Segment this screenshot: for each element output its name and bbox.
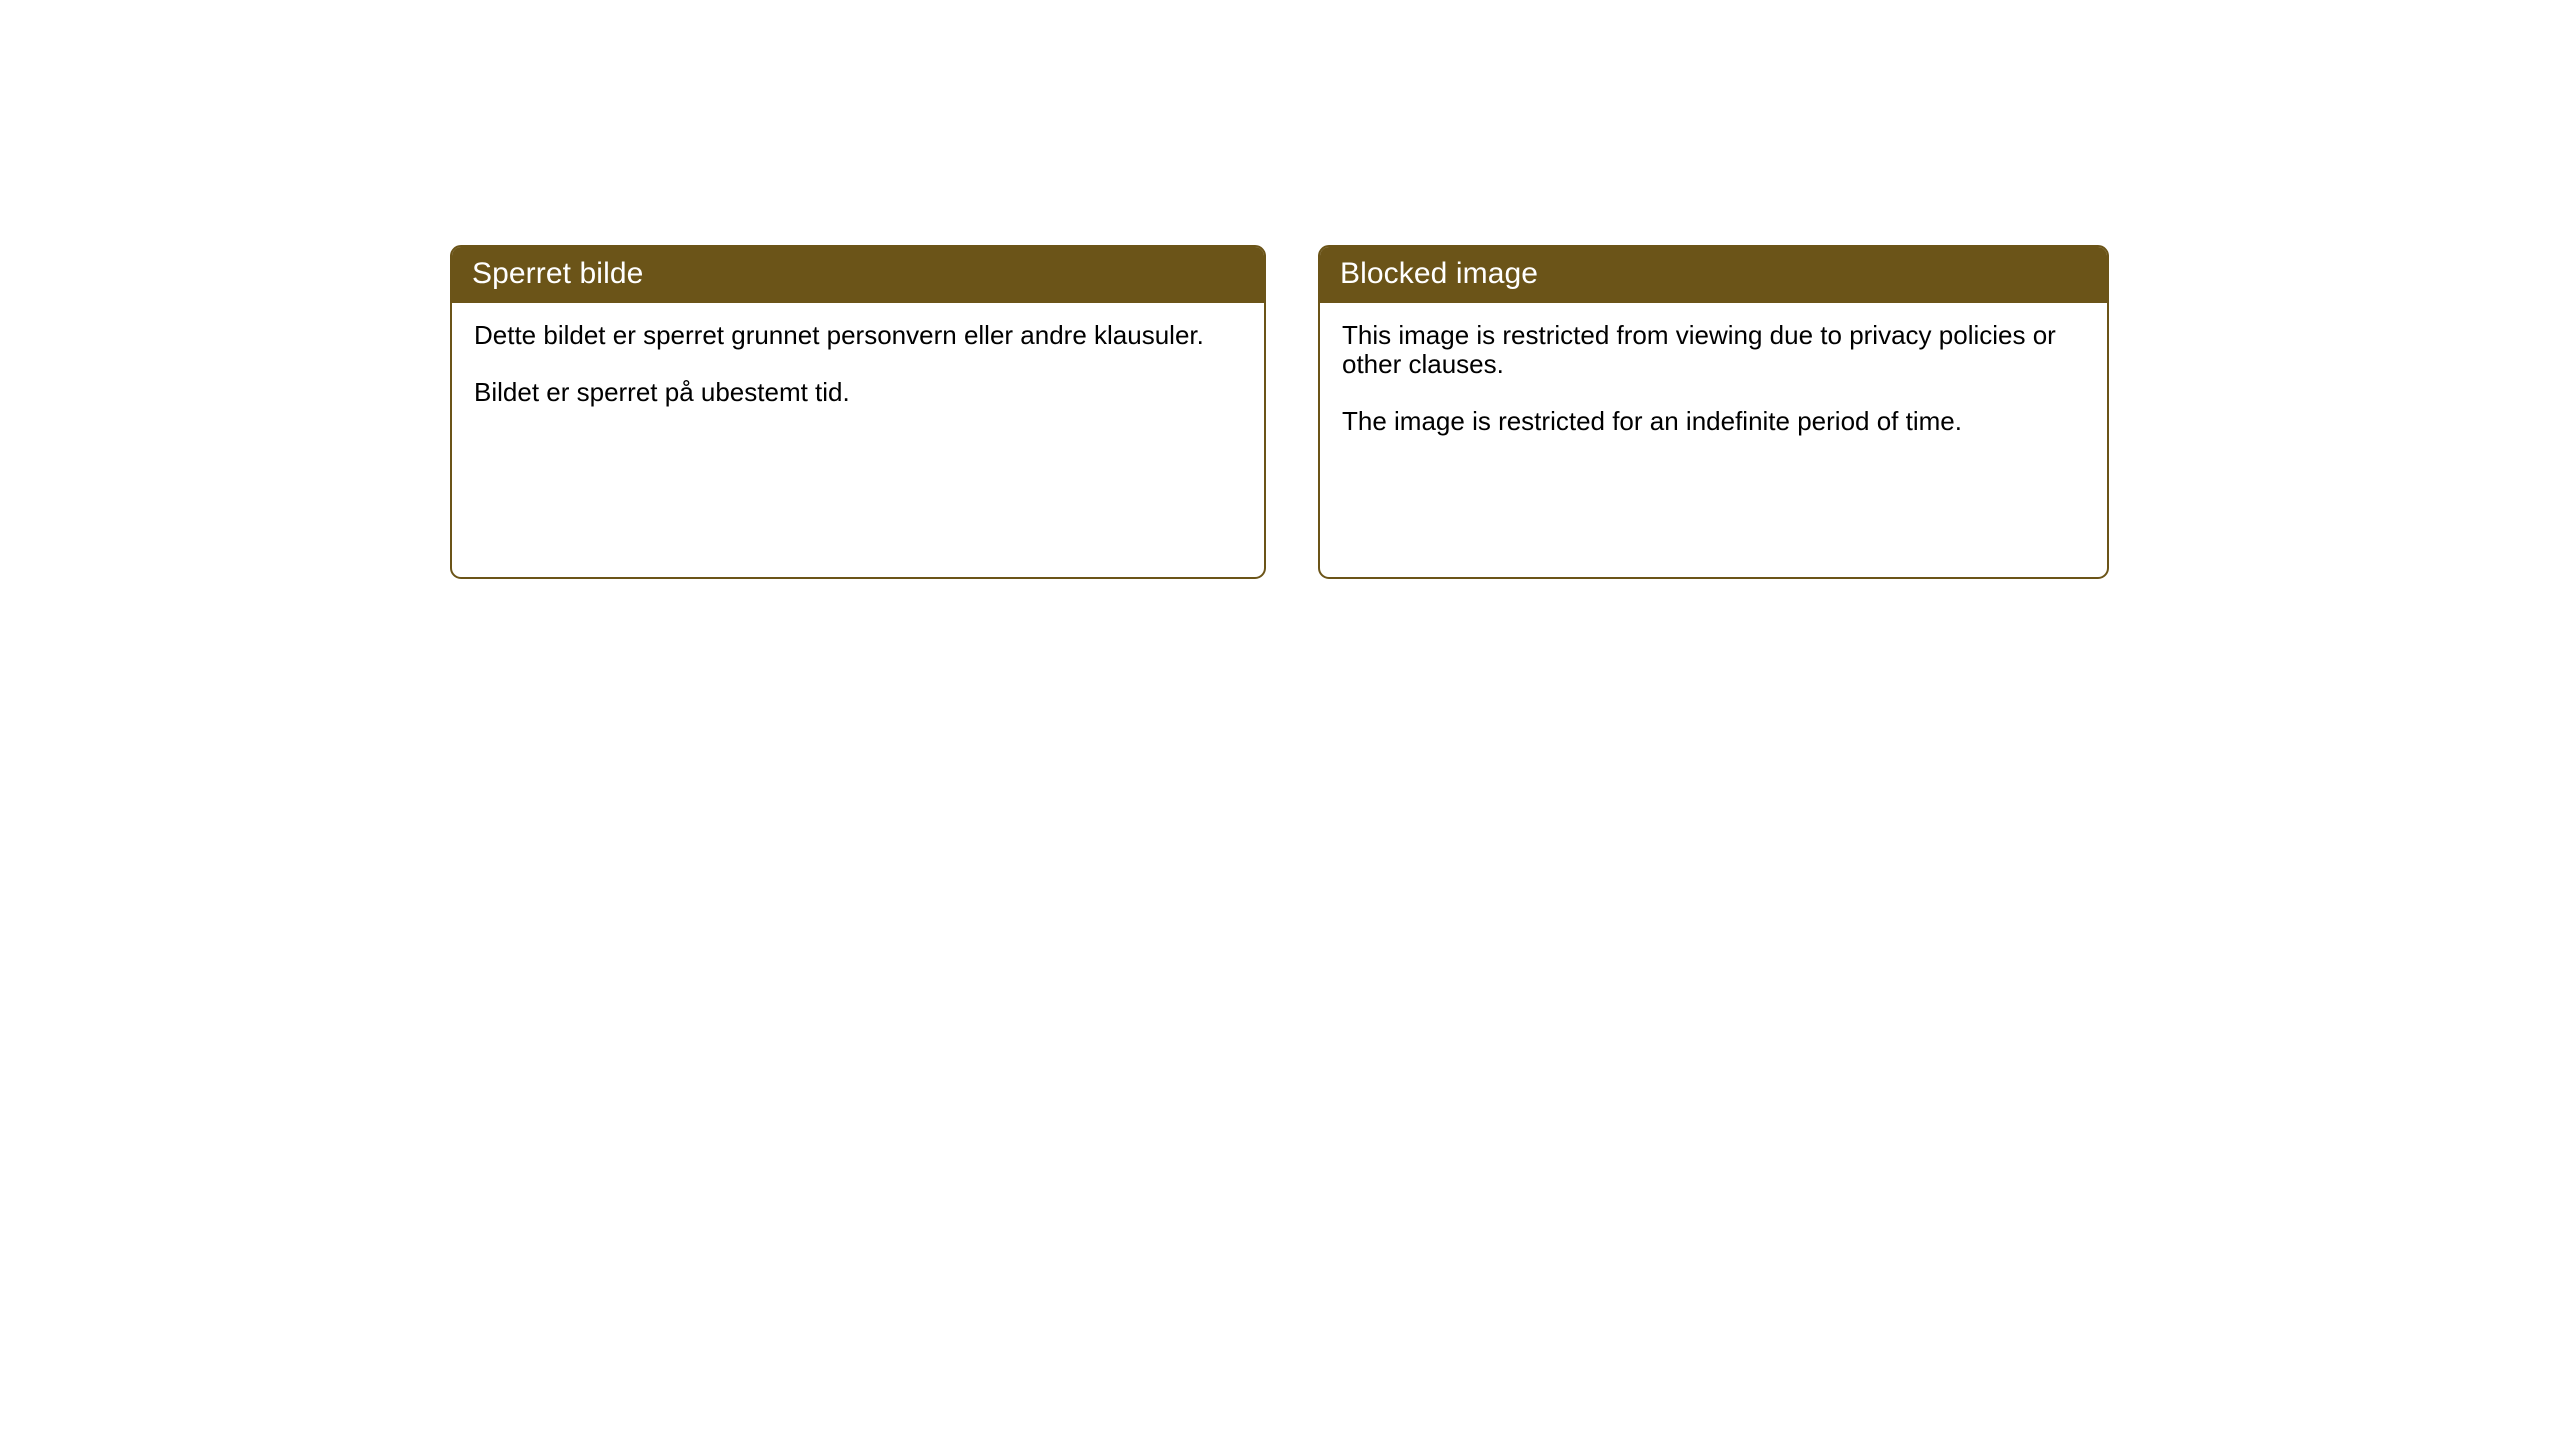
card-paragraph-privacy-english: This image is restricted from viewing du… <box>1342 321 2089 379</box>
card-title-english: Blocked image <box>1340 259 1538 289</box>
card-paragraph-duration-norwegian: Bildet er sperret på ubestemt tid. <box>474 378 1234 407</box>
page-root: Sperret bilde Dette bildet er sperret gr… <box>0 0 2560 1440</box>
blocked-image-notice-card-norwegian: Sperret bilde Dette bildet er sperret gr… <box>450 245 1266 579</box>
card-header-english: Blocked image <box>1318 245 2109 303</box>
paragraph-spacer <box>1342 379 2089 407</box>
paragraph-spacer <box>474 350 1234 378</box>
blocked-image-notice-card-english: Blocked image This image is restricted f… <box>1318 245 2109 579</box>
card-paragraph-privacy-norwegian: Dette bildet er sperret grunnet personve… <box>474 321 1234 350</box>
card-body-english: This image is restricted from viewing du… <box>1320 303 2107 456</box>
card-title-norwegian: Sperret bilde <box>472 259 643 289</box>
card-header-norwegian: Sperret bilde <box>450 245 1266 303</box>
card-paragraph-duration-english: The image is restricted for an indefinit… <box>1342 407 2089 436</box>
card-body-norwegian: Dette bildet er sperret grunnet personve… <box>452 303 1264 427</box>
